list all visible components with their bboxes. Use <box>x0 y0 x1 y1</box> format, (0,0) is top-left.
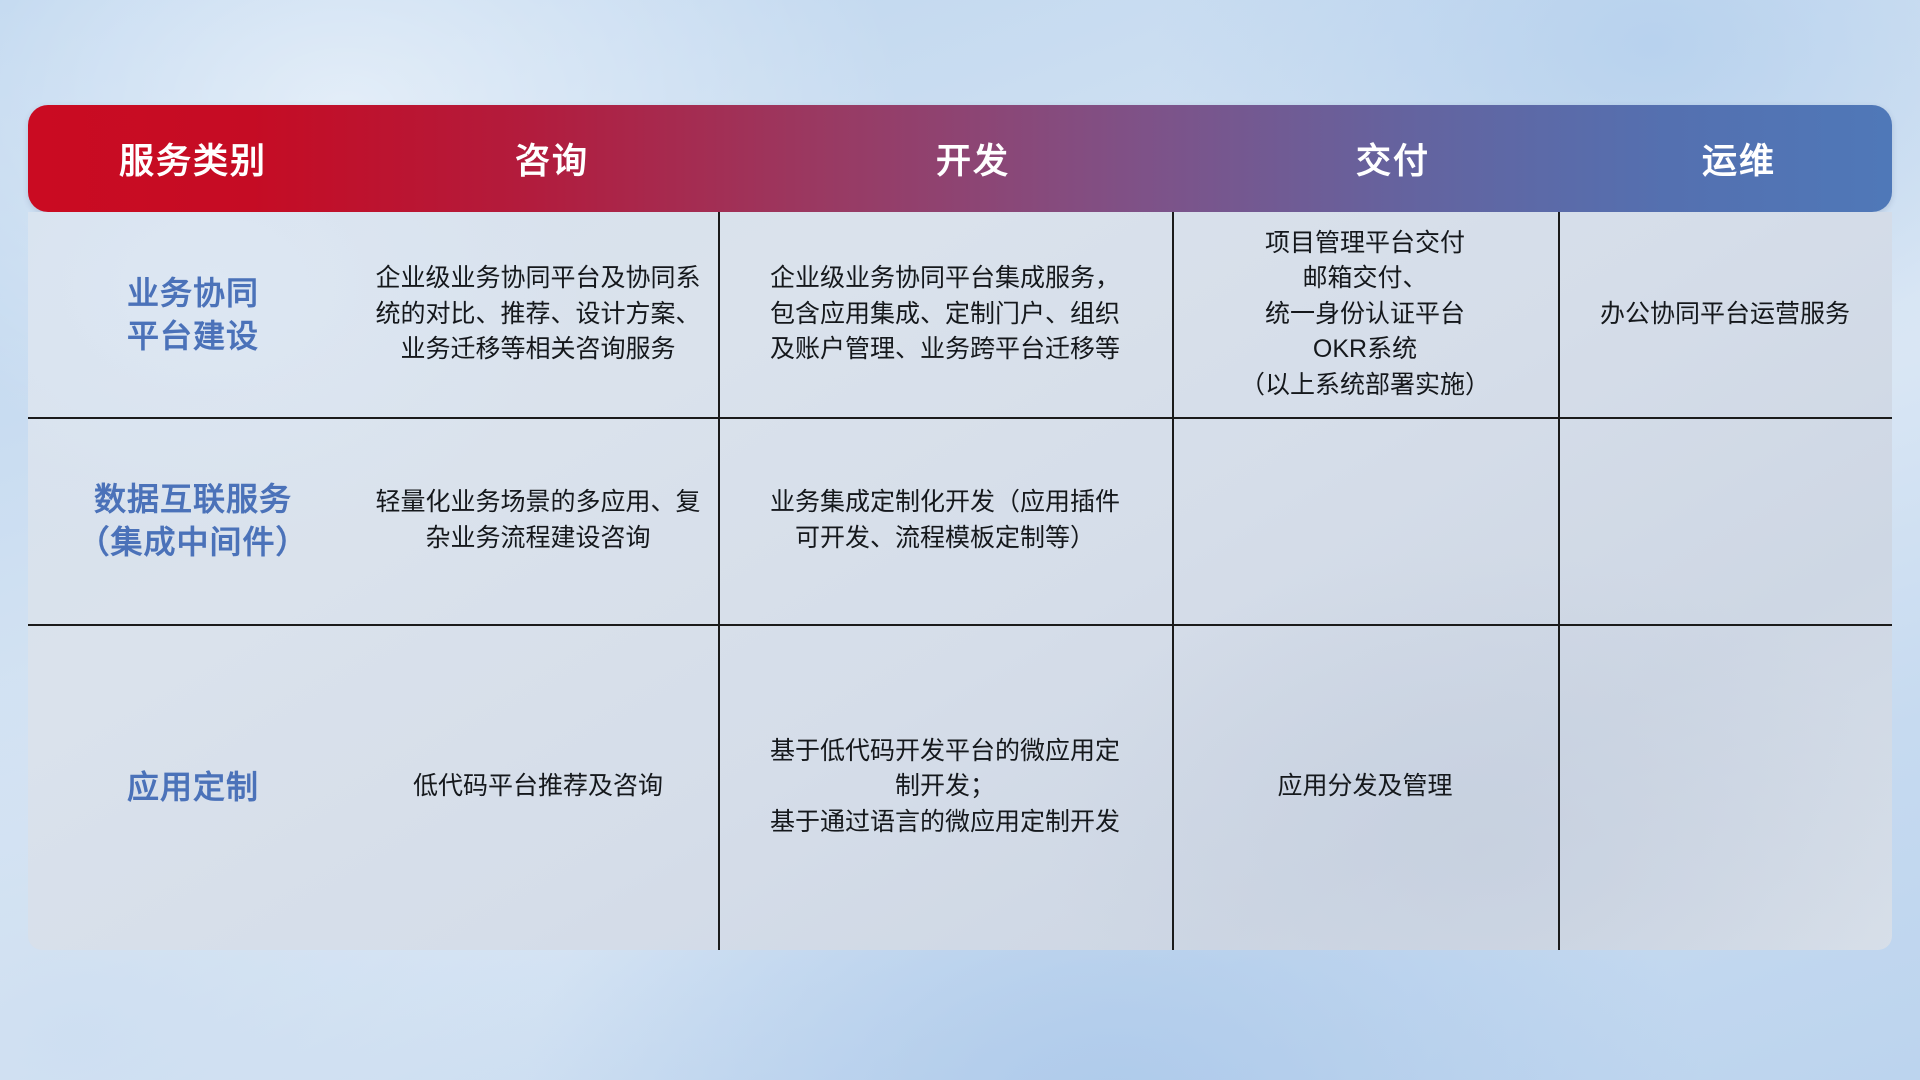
cell-r3-development: 基于低代码开发平台的微应用定 制开发； 基于通过语言的微应用定制开发 <box>718 734 1172 841</box>
cell-r2-consulting: 轻量化业务场景的多应用、复 杂业务流程建设咨询 <box>358 485 718 556</box>
cell-r1-delivery: 项目管理平台交付 邮箱交付、 统一身份认证平台 OKR系统 （以上系统部署实施） <box>1172 226 1558 404</box>
cell-r2-development: 业务集成定制化开发（应用插件 可开发、流程模板定制等） <box>718 485 1172 556</box>
row-label-data-interconnect-service: 数据互联服务 （集成中间件） <box>28 478 358 564</box>
table-row: 业务协同 平台建设 企业级业务协同平台及协同系 统的对比、推荐、设计方案、 业务… <box>28 212 1892 417</box>
table-row: 数据互联服务 （集成中间件） 轻量化业务场景的多应用、复 杂业务流程建设咨询 业… <box>28 417 1892 624</box>
row-label-application-customization: 应用定制 <box>28 766 358 809</box>
table-header-row: 服务类别 咨询 开发 交付 运维 <box>28 105 1892 212</box>
service-matrix-table: 服务类别 咨询 开发 交付 运维 业务协同 平台建设 企业级业务协同平台及协同系… <box>28 105 1892 950</box>
page-background: 服务类别 咨询 开发 交付 运维 业务协同 平台建设 企业级业务协同平台及协同系… <box>0 0 1920 1080</box>
table-row: 应用定制 低代码平台推荐及咨询 基于低代码开发平台的微应用定 制开发； 基于通过… <box>28 624 1892 950</box>
column-header-delivery: 交付 <box>1200 133 1586 184</box>
column-header-operations: 运维 <box>1586 133 1892 184</box>
cell-r3-consulting: 低代码平台推荐及咨询 <box>358 769 718 805</box>
cell-r1-consulting: 企业级业务协同平台及协同系 统的对比、推荐、设计方案、 业务迁移等相关咨询服务 <box>358 261 718 368</box>
column-header-development: 开发 <box>746 133 1200 184</box>
table-body: 业务协同 平台建设 企业级业务协同平台及协同系 统的对比、推荐、设计方案、 业务… <box>28 212 1892 950</box>
cell-r3-delivery: 应用分发及管理 <box>1172 769 1558 805</box>
cell-r1-operations: 办公协同平台运营服务 <box>1558 297 1892 333</box>
column-header-service-category: 服务类别 <box>28 133 358 184</box>
column-header-consulting: 咨询 <box>358 133 746 184</box>
row-label-business-collaboration-platform: 业务协同 平台建设 <box>28 272 358 358</box>
cell-r1-development: 企业级业务协同平台集成服务， 包含应用集成、定制门户、组织 及账户管理、业务跨平… <box>718 261 1172 368</box>
